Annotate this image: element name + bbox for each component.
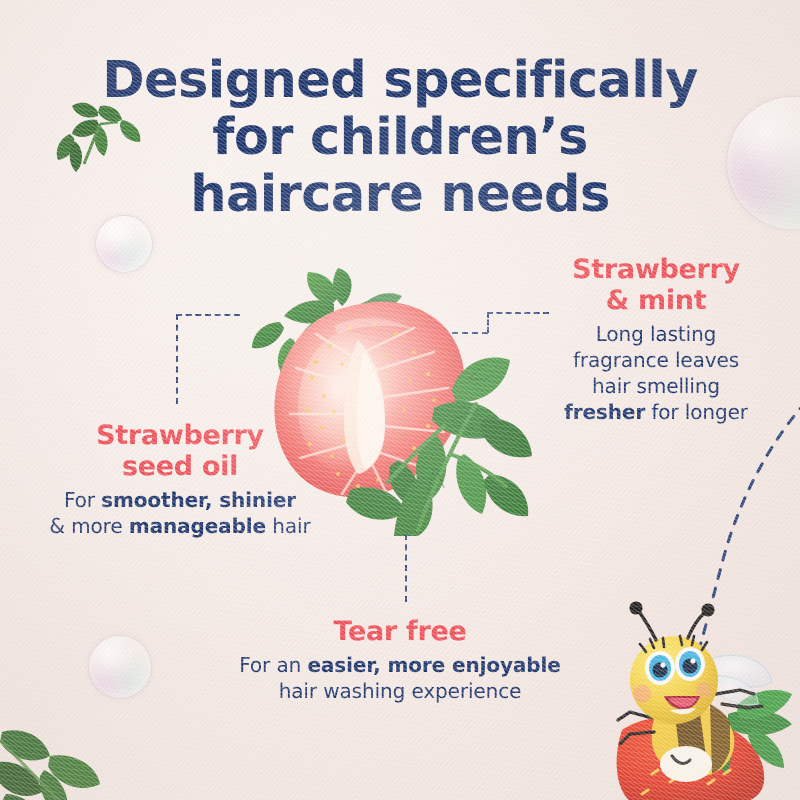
callout-tear-free-title: Tear free bbox=[200, 616, 600, 647]
callout-body-line-2: fragrance leaves bbox=[573, 348, 739, 372]
callout-body-line-1-pre: For an bbox=[239, 653, 307, 677]
mint-leaves-icon bbox=[0, 726, 120, 800]
callout-strawberry-seed-oil: Strawberry seed oil For smoother, shinie… bbox=[12, 420, 348, 539]
callout-body-line-2-pre: & more bbox=[49, 514, 128, 538]
bee-mascot-illustration bbox=[612, 598, 800, 800]
callout-title-line-1: Strawberry bbox=[572, 254, 740, 285]
callout-title-line-1: Strawberry bbox=[96, 420, 264, 451]
connector-line-strawberry-mint bbox=[487, 312, 489, 333]
headline-line-1: Designed specifically bbox=[0, 52, 800, 109]
connector-line-seed-oil bbox=[176, 314, 178, 404]
callout-body-line-1-pre: For bbox=[64, 488, 101, 512]
callout-strawberry-mint: Strawberry & mint Long lasting fragrance… bbox=[520, 254, 792, 425]
callout-tear-free-body: For an easier, more enjoyable hair washi… bbox=[200, 652, 600, 704]
callout-title-line-2: & mint bbox=[606, 285, 707, 316]
callout-strawberry-mint-body: Long lasting fragrance leaves hair smell… bbox=[520, 321, 792, 425]
callout-body-line-4-rest: for longer bbox=[645, 400, 748, 424]
connector-line-seed-oil bbox=[176, 314, 240, 316]
callout-body-line-2: hair washing experience bbox=[279, 679, 522, 703]
callout-tear-free: Tear free For an easier, more enjoyable … bbox=[200, 616, 600, 704]
page-title: Designed specifically for children’s hai… bbox=[0, 52, 800, 223]
soap-bubble-icon bbox=[88, 635, 152, 699]
callout-seed-oil-title: Strawberry seed oil bbox=[12, 420, 348, 482]
connector-line-strawberry-mint bbox=[452, 332, 488, 334]
callout-strawberry-mint-title: Strawberry & mint bbox=[520, 254, 792, 316]
soap-bubble-icon bbox=[95, 215, 153, 273]
connector-line-tear-free bbox=[405, 534, 407, 602]
promo-graphic: Designed specifically for children’s hai… bbox=[0, 0, 800, 800]
callout-seed-oil-body: For smoother, shinier & more manageable … bbox=[12, 487, 348, 539]
headline-line-2: for children’s bbox=[0, 109, 800, 166]
callout-body-line-3: hair smelling bbox=[592, 374, 720, 398]
callout-body-emphasis: manageable bbox=[129, 514, 266, 538]
callout-body-line-1: Long lasting bbox=[596, 322, 717, 346]
callout-body-emphasis: easier, more enjoyable bbox=[307, 653, 560, 677]
callout-body-line-2-post: hair bbox=[266, 514, 311, 538]
headline-line-3: haircare needs bbox=[0, 166, 800, 223]
callout-body-emphasis: smoother, shinier bbox=[101, 488, 296, 512]
callout-title-line-2: seed oil bbox=[122, 451, 238, 482]
callout-body-emphasis: fresher bbox=[564, 400, 645, 424]
